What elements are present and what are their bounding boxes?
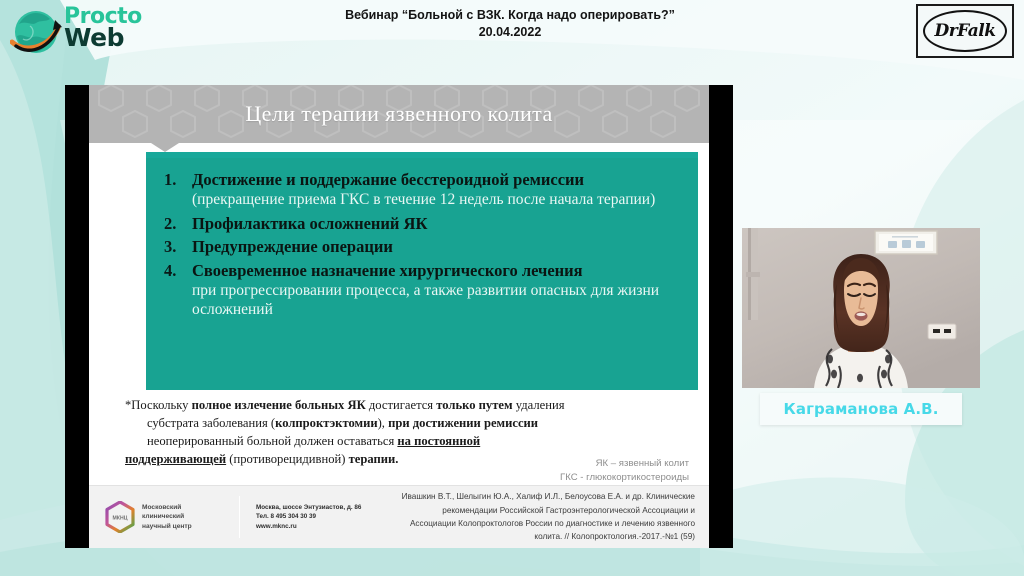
mknc-logo: МКНЦ Московский клинический научный цент… bbox=[89, 486, 239, 548]
slide-title-bar: Цели терапии язвенного колита bbox=[89, 85, 709, 143]
list-item: 2. Профилактика осложнений ЯК bbox=[162, 214, 684, 233]
mknc-name-line2: клинический bbox=[142, 512, 192, 522]
mknc-name: Московский клинический научный центр bbox=[142, 503, 192, 532]
address-line3: www.mknc.ru bbox=[256, 522, 361, 531]
footnote-line-3: неоперированный больной должен оставатьс… bbox=[125, 433, 685, 451]
list-item-number: 2. bbox=[164, 214, 176, 234]
footnote-text: удаления bbox=[513, 398, 565, 412]
reference-line4: колита. // Колопроктология.-2017.-№1 (59… bbox=[402, 530, 695, 543]
list-item-heading: Своевременное назначение хирургического … bbox=[192, 261, 684, 280]
list-item-subtext: (прекращение приема ГКС в течение 12 нед… bbox=[192, 190, 684, 209]
address-line1: Москва, шоссе Энтузиастов, д. 86 bbox=[256, 503, 361, 512]
list-item-number: 3. bbox=[164, 237, 176, 257]
page-header: Procto Web Вебинар “Больной с ВЗК. Когда… bbox=[0, 0, 1024, 62]
footnote-text: достигается bbox=[366, 398, 437, 412]
webinar-date: 20.04.2022 bbox=[290, 24, 730, 41]
goals-panel: 1. Достижение и поддержание бесстероидно… bbox=[146, 158, 698, 390]
mknc-name-line3: научный центр bbox=[142, 522, 192, 532]
falk-logo-text: DrFalk bbox=[934, 21, 995, 41]
footnote-text-bold: полное излечение больных ЯК bbox=[192, 398, 366, 412]
list-item: 3. Предупреждение операции bbox=[162, 237, 684, 256]
reference-line2: рекомендации Российской Гастроэнтерологи… bbox=[402, 504, 695, 517]
footnote-line-2: субстрата заболевания (колпроктэктомии),… bbox=[125, 415, 685, 433]
title-notch-icon bbox=[151, 143, 179, 152]
footnote-text-bold: только путем bbox=[436, 398, 512, 412]
list-item-number: 1. bbox=[164, 170, 176, 190]
webcam-panel[interactable] bbox=[742, 228, 980, 388]
slide-reference: Ивашкин В.Т., Шелыгин Ю.А., Халиф И.Л., … bbox=[395, 486, 709, 548]
presentation-slide: Цели терапии язвенного колита 1. Достиже… bbox=[89, 85, 709, 548]
speaker-name-plate: Каграманова А.В. bbox=[760, 393, 962, 425]
footnote-text: (противорецидивной) bbox=[226, 452, 349, 466]
goals-list: 1. Достижение и поддержание бесстероидно… bbox=[146, 158, 698, 320]
list-item: 1. Достижение и поддержание бесстероидно… bbox=[162, 170, 684, 210]
footnote-text: ), bbox=[378, 416, 389, 430]
globe-icon bbox=[10, 6, 62, 58]
speaker-name: Каграманова А.В. bbox=[783, 400, 938, 418]
webcam-frame bbox=[742, 228, 980, 388]
sponsor-logo-falk: DrFalk bbox=[916, 4, 1014, 58]
list-item-heading: Предупреждение операции bbox=[192, 237, 684, 256]
reference-line3: Ассоциации Колопроктологов России по диа… bbox=[402, 517, 695, 530]
webinar-title: Вебинар “Больной с ВЗК. Когда надо опери… bbox=[290, 7, 730, 41]
reference-line1: Ивашкин В.Т., Шелыгин Ю.А., Халиф И.Л., … bbox=[402, 490, 695, 503]
webinar-title-text: Вебинар “Больной с ВЗК. Когда надо опери… bbox=[345, 8, 675, 22]
footnote-text: субстрата заболевания ( bbox=[147, 416, 275, 430]
list-item-heading: Достижение и поддержание бесстероидной р… bbox=[192, 170, 684, 189]
hexagon-logo-icon: МКНЦ bbox=[105, 501, 135, 533]
footnote-text-bold: при достижении ремиссии bbox=[388, 416, 538, 430]
mknc-address: Москва, шоссе Энтузиастов, д. 86 Тел. 8 … bbox=[240, 486, 395, 548]
proctoweb-logo[interactable]: Procto Web bbox=[6, 2, 136, 60]
footnote-text-underline: поддерживающей bbox=[125, 452, 226, 466]
list-item-heading: Профилактика осложнений ЯК bbox=[192, 214, 684, 233]
webcam-video[interactable] bbox=[742, 228, 980, 388]
footnote-text: *Поскольку bbox=[125, 398, 192, 412]
mknc-name-line1: Московский bbox=[142, 503, 192, 513]
slide-footer: МКНЦ Московский клинический научный цент… bbox=[89, 485, 709, 548]
list-item: 4. Своевременное назначение хирургическо… bbox=[162, 261, 684, 320]
abbreviation-item: ГКС - глюкокортикостероиды bbox=[389, 471, 689, 485]
footnote-line-1: *Поскольку полное излечение больных ЯК д… bbox=[125, 397, 685, 415]
address-line2: Тел. 8 495 304 30 39 bbox=[256, 512, 361, 521]
svg-text:МКНЦ: МКНЦ bbox=[112, 516, 127, 522]
footnote-text-bold: колпроктэктомии bbox=[275, 416, 377, 430]
abbreviation-legend: ЯК – язвенный колит ГКС - глюкокортикост… bbox=[389, 457, 689, 486]
list-item-number: 4. bbox=[164, 261, 176, 281]
slide-title: Цели терапии язвенного колита bbox=[89, 85, 709, 143]
abbreviation-item: ЯК – язвенный колит bbox=[389, 457, 689, 471]
footnote-text: неоперированный больной должен оставатьс… bbox=[147, 434, 397, 448]
list-item-subtext: при прогрессировании процесса, а также р… bbox=[192, 281, 684, 319]
presentation-slide-frame[interactable]: Цели терапии язвенного колита 1. Достиже… bbox=[65, 85, 733, 548]
falk-oval: DrFalk bbox=[923, 10, 1007, 52]
footnote-text-underline: на постоянной bbox=[397, 434, 480, 448]
